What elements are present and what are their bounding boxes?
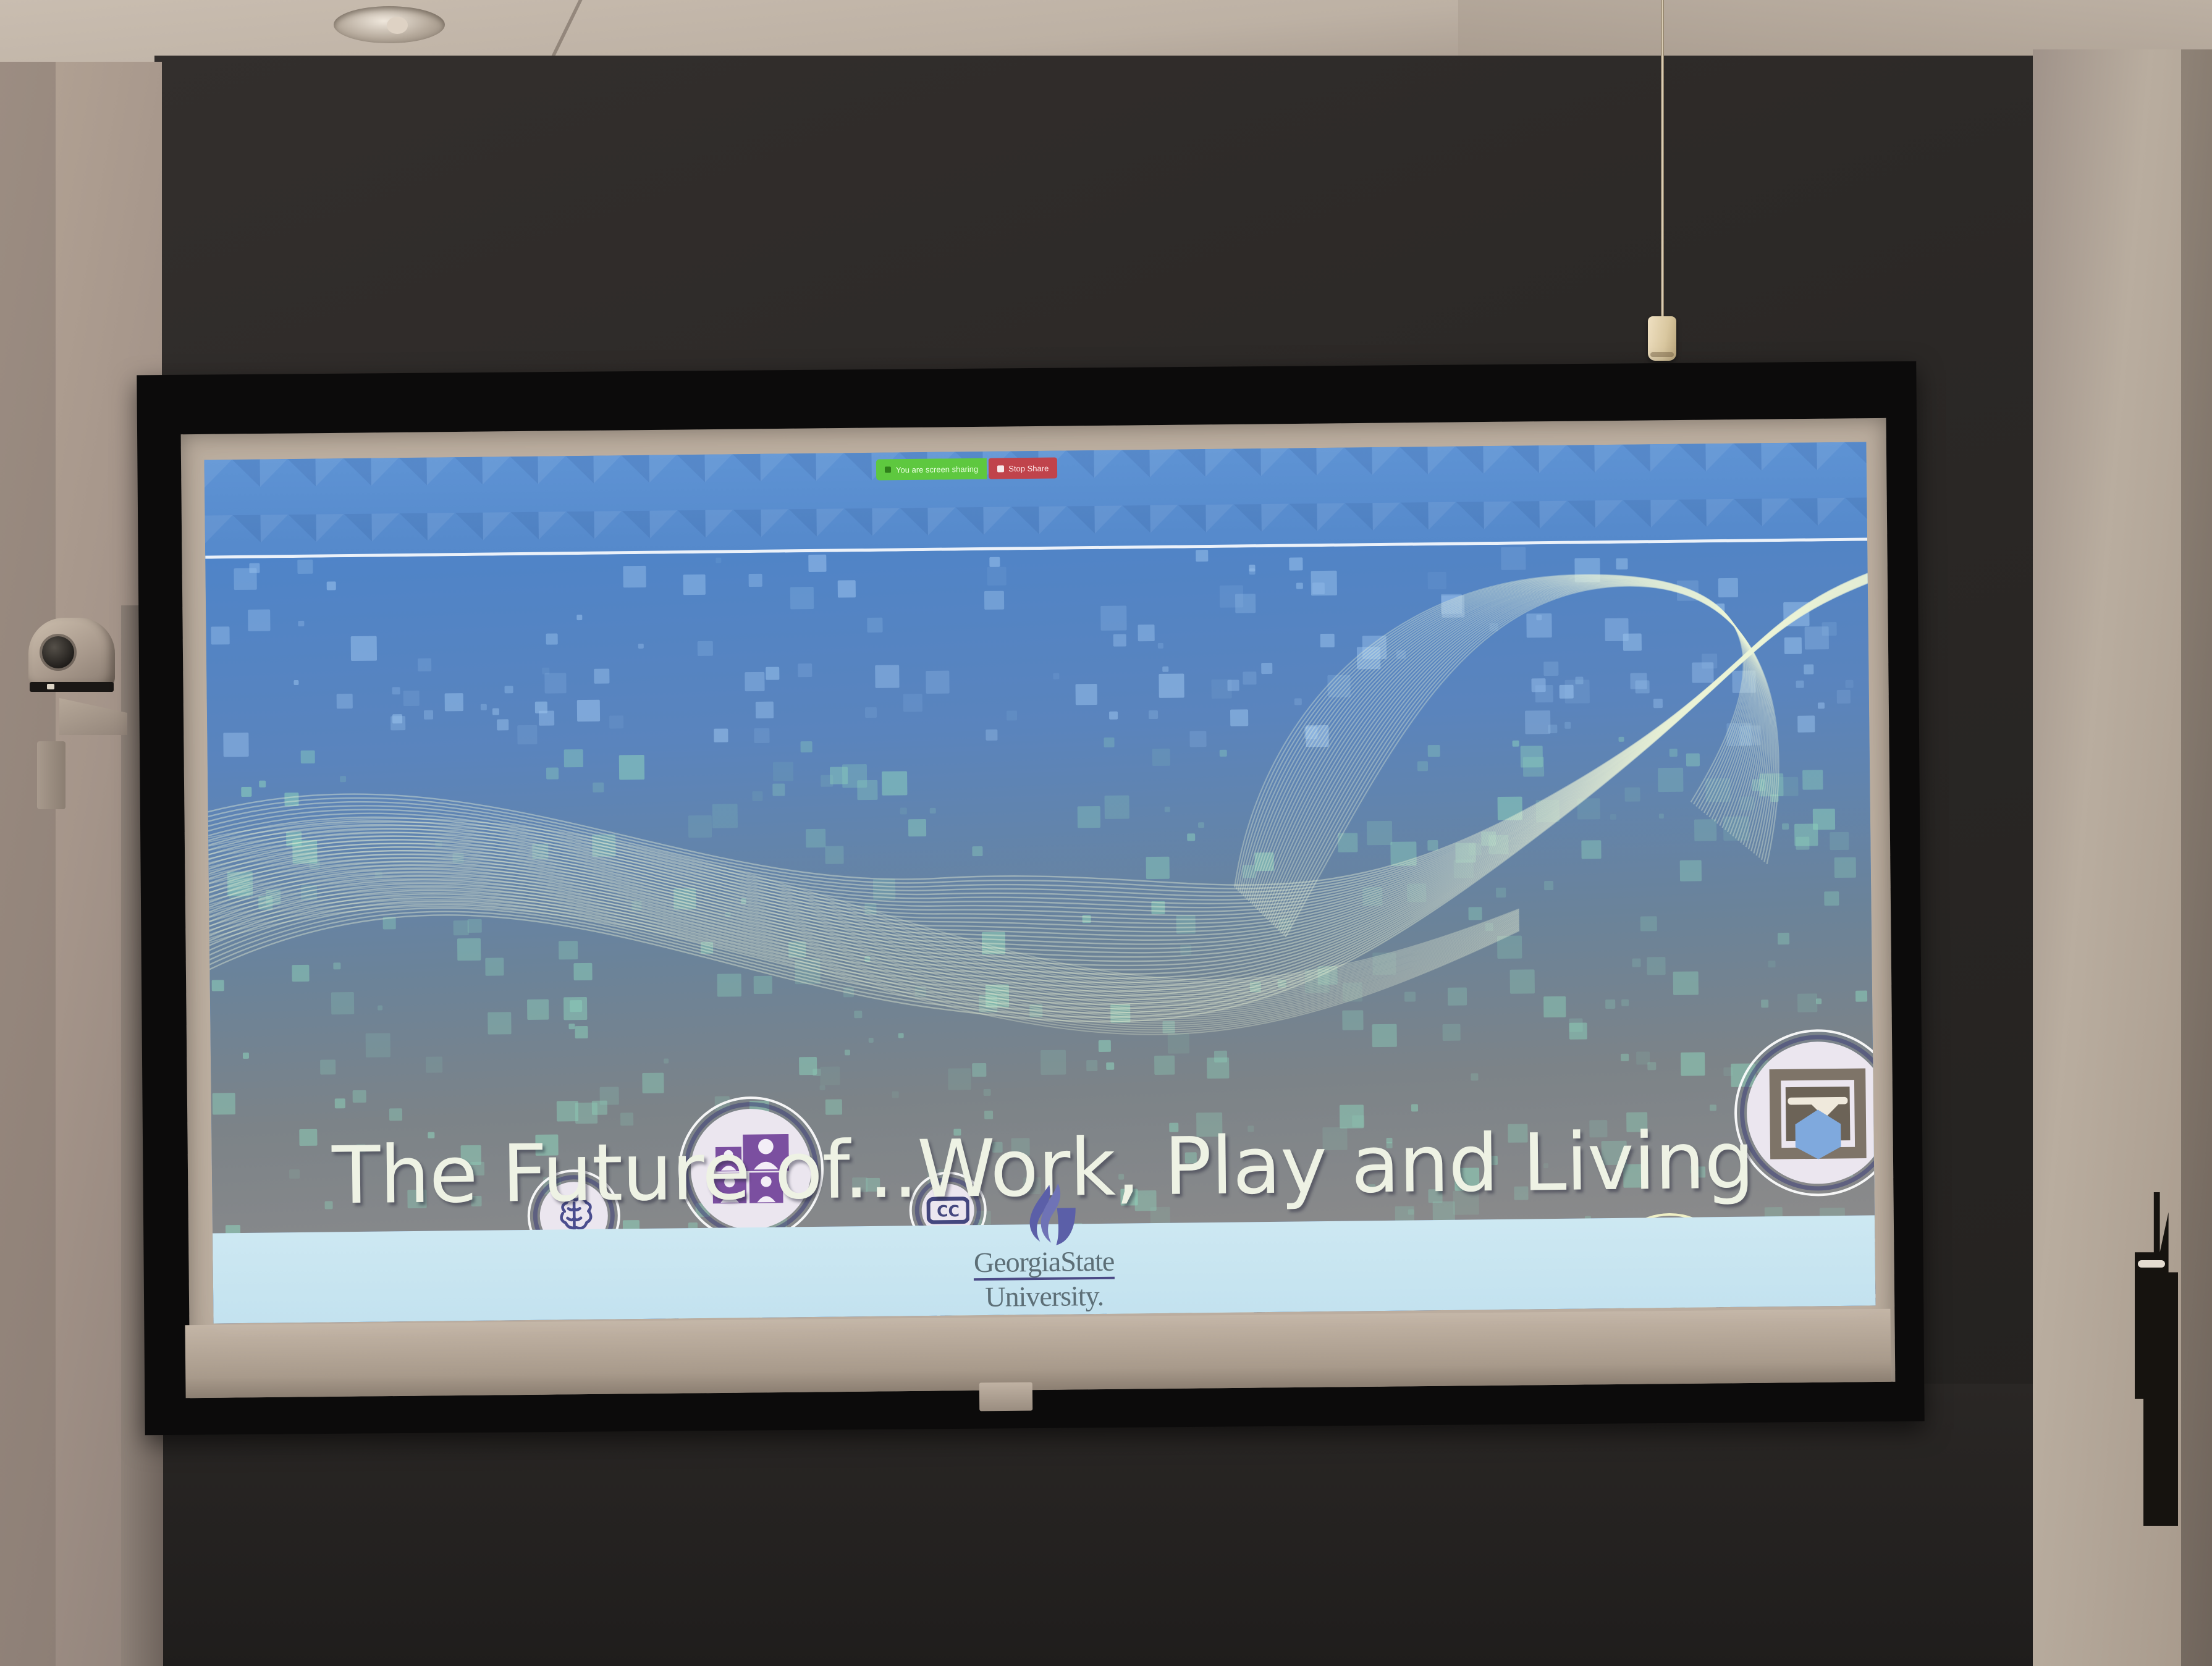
ceiling-recessed-light-icon <box>334 6 445 43</box>
hanging-ceiling-microphone-icon <box>1648 316 1676 361</box>
gsu-wordmark: GeorgiaState University. <box>942 1247 1146 1312</box>
projected-slide: CC <box>205 442 1876 1323</box>
left-wall-face <box>0 62 56 1666</box>
microphone-cable <box>1661 0 1664 321</box>
room-scene: CC <box>0 0 2212 1666</box>
gsu-wordmark-line1: GeorgiaState <box>974 1247 1115 1281</box>
zoom-share-toolbar[interactable]: You are screen sharing Stop Share <box>876 457 1058 480</box>
security-camera-vent <box>30 682 114 692</box>
screen-sharing-status: You are screen sharing <box>876 458 987 481</box>
share-indicator-icon <box>885 466 891 473</box>
projection-screen-pull-tab[interactable] <box>979 1382 1032 1411</box>
stop-share-label: Stop Share <box>1008 463 1049 473</box>
right-wall-glint <box>2138 1260 2165 1268</box>
gsu-flame-icon <box>1006 1182 1081 1252</box>
gsu-wordmark-line2: University. <box>942 1281 1146 1312</box>
screen-sharing-status-label: You are screen sharing <box>896 464 978 474</box>
security-camera-mount <box>37 741 65 809</box>
stop-square-icon <box>997 465 1004 472</box>
georgia-state-university-logo: GeorgiaState University. <box>941 1181 1146 1312</box>
security-camera-lens-icon <box>42 636 74 668</box>
right-wall-shadow <box>2181 49 2212 1666</box>
stop-share-button[interactable]: Stop Share <box>989 457 1057 479</box>
